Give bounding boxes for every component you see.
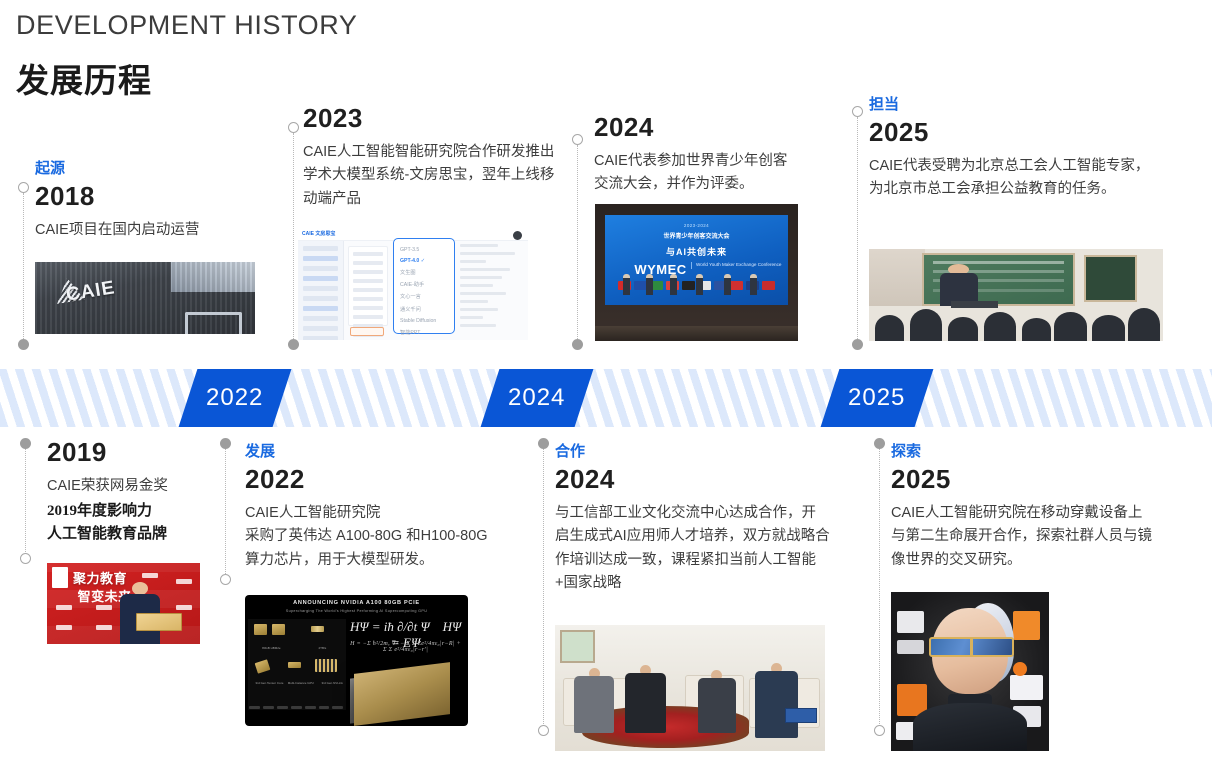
stage-floor: [595, 326, 798, 341]
dropdown-item: CAIE-助手: [394, 279, 454, 291]
ui-avatar: [513, 231, 522, 240]
connector-rail-2025-top: [857, 117, 858, 341]
card-year: 2022: [245, 465, 525, 495]
rail-dot-bottom-2019: [20, 553, 31, 564]
card-tag: 发展: [245, 443, 525, 461]
band-year-label: 2025: [848, 384, 905, 412]
card-desc: CAIE人工智能智能研究院合作研发推出学术大模型系统-文房思宝，翌年上线移动端产…: [303, 141, 558, 211]
attendee: [625, 665, 666, 733]
classroom-wall: [869, 249, 925, 306]
bg-tile: [1013, 662, 1027, 676]
screen-line1: 2023-2024: [605, 223, 788, 228]
attendee: [755, 663, 798, 739]
band-year-label: 2022: [206, 384, 263, 412]
rail-dot-top-2019: [20, 438, 31, 449]
award-plaque: [136, 613, 182, 631]
bg-tile: [1013, 611, 1040, 640]
rail-dot-top-2024-bottom: [538, 438, 549, 449]
dropdown-item: 通义千问: [394, 303, 454, 315]
dropdown-item: Stable Diffusion: [394, 315, 454, 326]
gpu-spec-panel: 80GB HBM2e 2TB/s 3rd Gen Tensor Core Mul…: [248, 619, 346, 711]
connector-rail-2025-bottom: [879, 448, 880, 730]
card-year: 2019: [47, 438, 232, 468]
gpu-slide-title: ANNOUNCING NVIDIA A100 80GB PCIE: [245, 600, 468, 606]
connector-rail-2022: [225, 448, 226, 578]
stage-people: [620, 274, 773, 296]
dropdown-item: 文生图: [394, 266, 454, 278]
rail-dot-bottom-2025-bottom: [874, 725, 885, 736]
ui-model-dropdown: GPT-3.5 GPT-4.0 文生图 CAIE-助手 文心一言 通义千问 St…: [393, 238, 455, 334]
gpu-partner-logos: [249, 702, 343, 712]
card-year: 2025: [891, 465, 1156, 495]
card-desc: CAIE代表参加世界青少年创客交流大会，并作为评委。: [594, 150, 799, 197]
card-year: 2024: [555, 465, 830, 495]
timeline-card-2025-bottom[interactable]: 探索 2025 CAIE人工智能研究院在移动穿戴设备上与第二生命展开合作，探索社…: [891, 443, 1156, 572]
card-desc-strong: 2019年度影响力 人工智能教育品牌: [47, 500, 232, 545]
dropdown-item-selected: GPT-4.0: [394, 255, 454, 266]
connector-rail-2024-bottom: [543, 448, 544, 730]
card-year: 2025: [869, 118, 1159, 148]
card-desc: CAIE人工智能研究院在移动穿戴设备上与第二生命展开合作，探索社群人员与镜像世界…: [891, 502, 1156, 572]
timeline-card-2025-top[interactable]: 担当 2025 CAIE代表受聘为北京总工会人工智能专家，为北京市总工会承担公益…: [869, 96, 1159, 202]
wymec-conference-photo: 2023-2024 世界青少年创客交流大会 与AI共创未来 WYMEC Worl…: [595, 204, 798, 341]
teacher-figure: [940, 264, 978, 306]
caie-building-photo: CAIE: [35, 262, 255, 334]
ui-chat-area: [460, 244, 524, 334]
timeline-card-2023[interactable]: 2023 CAIE人工智能智能研究院合作研发推出学术大模型系统-文房思宝，翌年上…: [303, 104, 558, 211]
ai-platform-screenshot: CAIE 文房思宝 GPT-3.5 GPT-4.0 文生图 CAIE-助手 文心…: [298, 228, 528, 340]
band-year-2022: 2022: [179, 369, 292, 427]
ai-body: [913, 703, 1027, 751]
netease-award-photo: 聚力教育 智变未来: [47, 563, 200, 644]
rail-dot-bottom-2022: [220, 574, 231, 585]
rail-dot-top-2024-top: [572, 134, 583, 145]
ar-glasses-icon: [929, 637, 1014, 658]
laptop: [785, 708, 817, 723]
card-desc: CAIE荣获网易金奖: [47, 475, 232, 498]
card-desc: 与工信部工业文化交流中心达成合作，开启生成式AI应用师人才培养，双方就战略合作培…: [555, 502, 830, 596]
dropdown-item: GPT-3.5: [394, 244, 454, 255]
rail-dot-top-2018: [18, 182, 29, 193]
timeline-infographic: DEVELOPMENT HISTORY 发展历程 起源 2018 CAIE项目在…: [0, 0, 1212, 761]
card-desc: CAIE代表受聘为北京总工会人工智能专家，为北京市总工会承担公益教育的任务。: [869, 155, 1159, 202]
meeting-window: [560, 630, 595, 663]
rail-dot-bottom-2024-top: [572, 339, 583, 350]
screen-line2: 世界青少年创客交流大会: [605, 231, 788, 240]
rail-dot-top-2023: [288, 122, 299, 133]
timeline-card-2019[interactable]: 2019 CAIE荣获网易金奖 2019年度影响力 人工智能教育品牌: [47, 438, 232, 545]
attendee: [698, 670, 736, 733]
band-year-label: 2024: [508, 384, 565, 412]
card-tag: 担当: [869, 96, 1159, 114]
card-year: 2023: [303, 104, 558, 134]
gpu-equation-detail: H = −Σ ħ²/2mₑ ∇² − Σ Σ Ze²/4πε₀|r−R| + Σ…: [348, 640, 464, 653]
connector-rail-2019: [25, 448, 26, 558]
screen-line3: 与AI共创未来: [605, 245, 788, 258]
ui-model-list: [348, 246, 388, 326]
rail-dot-bottom-2023: [288, 339, 299, 350]
page-title-cn: 发展历程: [16, 54, 152, 102]
photo-door: [185, 312, 242, 334]
connector-rail-2023: [293, 133, 294, 341]
band-year-2025: 2025: [821, 369, 934, 427]
page-title-en: DEVELOPMENT HISTORY: [16, 10, 358, 41]
timeline-card-2024-top[interactable]: 2024 CAIE代表参加世界青少年创客交流大会，并作为评委。: [594, 113, 799, 197]
rail-dot-bottom-2024-bottom: [538, 725, 549, 736]
card-tag: 合作: [555, 443, 830, 461]
timeline-card-2022[interactable]: 发展 2022 CAIE人工智能研究院 采购了英伟达 A100-80G 和H10…: [245, 443, 525, 572]
partnership-meeting-photo: [555, 625, 825, 751]
ai-avatar-render: [891, 592, 1049, 751]
band-year-2024: 2024: [481, 369, 594, 427]
rail-dot-top-2022: [220, 438, 231, 449]
screen-logo-sub: World Youth Maker Exchange Conference: [691, 262, 781, 269]
dropdown-item: 智能PPT: [394, 326, 454, 338]
ui-primary-button: [350, 327, 384, 336]
connector-rail-2018: [23, 193, 24, 341]
card-tag: 探索: [891, 443, 1156, 461]
attendee: [574, 668, 615, 734]
timeline-card-2024-bottom[interactable]: 合作 2024 与工信部工业文化交流中心达成合作，开启生成式AI应用师人才培养，…: [555, 443, 830, 596]
students-row: [869, 304, 1163, 341]
stage-led-screen: 2023-2024 世界青少年创客交流大会 与AI共创未来 WYMEC Worl…: [605, 215, 788, 305]
classroom-teaching-photo: [869, 249, 1163, 341]
timeline-card-2018[interactable]: 起源 2018 CAIE项目在国内启动运营: [35, 160, 270, 242]
timeline-band: 2022 2024 2025: [0, 369, 1212, 427]
card-desc: CAIE项目在国内启动运营: [35, 219, 270, 242]
connector-rail-2024-top: [577, 145, 578, 341]
bg-tile: [897, 640, 924, 654]
rail-dot-bottom-2018: [18, 339, 29, 350]
dropdown-item: 文心一言: [394, 291, 454, 303]
card-year: 2018: [35, 182, 270, 212]
gpu-card-render: [354, 662, 450, 726]
gpu-slide-subtitle: Supercharging The World's Highest Perfor…: [245, 609, 468, 613]
rail-dot-top-2025-bottom: [874, 438, 885, 449]
rail-dot-top-2025-top: [852, 106, 863, 117]
bg-tile: [1010, 675, 1043, 700]
rail-dot-bottom-2025-top: [852, 339, 863, 350]
ui-sidebar: [298, 241, 344, 340]
bg-tile: [897, 611, 924, 633]
ui-brand-label: CAIE 文房思宝: [302, 230, 335, 237]
card-year: 2024: [594, 113, 799, 143]
side-chalkboard: [1084, 255, 1137, 303]
card-desc: CAIE人工智能研究院 采购了英伟达 A100-80G 和H100-80G 算力…: [245, 502, 525, 572]
nvidia-a100-slide: ANNOUNCING NVIDIA A100 80GB PCIE Superch…: [245, 595, 468, 726]
card-tag: 起源: [35, 160, 270, 178]
